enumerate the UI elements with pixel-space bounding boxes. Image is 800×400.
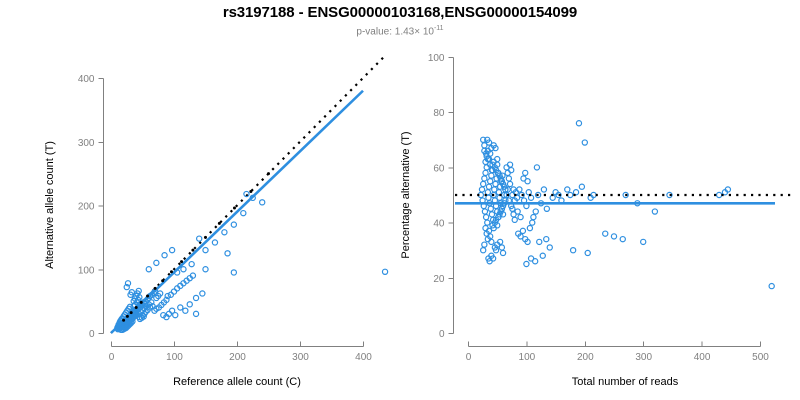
data-point xyxy=(171,289,176,294)
x-tick-label: 400 xyxy=(694,352,711,363)
data-point xyxy=(231,222,236,227)
data-point xyxy=(484,165,489,170)
data-point xyxy=(579,184,584,189)
left-scatter-points xyxy=(115,191,388,332)
data-point xyxy=(193,311,198,316)
left-y-tick-marks xyxy=(99,79,104,334)
data-point xyxy=(512,217,517,222)
data-point-dark xyxy=(191,249,194,252)
figure-container: rs3197188 - ENSG00000103168,ENSG00000154… xyxy=(0,0,800,400)
data-point xyxy=(486,184,491,189)
y-tick-label: 100 xyxy=(78,265,95,276)
data-point-dark xyxy=(154,287,157,290)
x-tick-label: 200 xyxy=(229,352,246,363)
data-point xyxy=(527,226,532,231)
data-point xyxy=(231,270,236,275)
data-point xyxy=(482,209,487,214)
data-point xyxy=(260,200,265,205)
y-tick-label: 300 xyxy=(78,138,95,149)
data-point xyxy=(523,170,528,175)
data-point xyxy=(181,267,186,272)
data-point-dark xyxy=(218,222,221,225)
data-point xyxy=(544,206,549,211)
data-point xyxy=(173,313,178,318)
data-point xyxy=(479,187,484,192)
left-panel: 0100200300400 Alternative allele count (… xyxy=(44,56,388,388)
data-point xyxy=(507,162,512,167)
data-point xyxy=(189,262,194,267)
data-point xyxy=(241,211,246,216)
data-point xyxy=(585,250,590,255)
left-y-axis-title: Alternative allele count (T) xyxy=(44,141,56,269)
data-point xyxy=(483,170,488,175)
data-point xyxy=(481,181,486,186)
right-x-axis-title: Total number of reads xyxy=(572,376,679,388)
data-point xyxy=(500,250,505,255)
data-point-dark xyxy=(180,260,183,263)
data-point xyxy=(533,259,538,264)
data-point xyxy=(540,253,545,258)
data-point xyxy=(193,295,198,300)
data-point xyxy=(222,230,227,235)
data-point xyxy=(481,248,486,253)
x-tick-label: 300 xyxy=(635,352,652,363)
left-y-tick-labels: 0100200300400 xyxy=(78,74,95,340)
x-tick-label: 100 xyxy=(519,352,536,363)
data-point xyxy=(203,267,208,272)
data-point xyxy=(505,170,510,175)
data-point xyxy=(482,176,487,181)
data-point xyxy=(509,168,514,173)
data-point-dark xyxy=(122,319,125,322)
data-point xyxy=(568,192,573,197)
data-point xyxy=(571,248,576,253)
data-point xyxy=(520,228,525,233)
data-point xyxy=(488,179,493,184)
x-tick-label: 300 xyxy=(292,352,309,363)
data-point xyxy=(517,187,522,192)
y-tick-label: 0 xyxy=(89,329,95,340)
data-point xyxy=(485,220,490,225)
right-panel: 020406080100 Percentage alternative (T) … xyxy=(400,53,792,388)
data-point xyxy=(652,209,657,214)
x-tick-label: 0 xyxy=(109,352,115,363)
left-panel-y-axis: 0100200300400 Alternative allele count (… xyxy=(44,74,104,340)
data-point-dark xyxy=(146,295,149,298)
data-point xyxy=(537,239,542,244)
y-tick-label: 200 xyxy=(78,202,95,213)
left-x-axis-title: Reference allele count (C) xyxy=(173,376,301,388)
left-panel-x-axis: 0100200300400 Reference allele count (C) xyxy=(109,342,373,389)
right-y-tick-marks xyxy=(449,58,454,334)
left-x-tick-marks xyxy=(112,342,364,347)
data-point xyxy=(524,261,529,266)
data-point xyxy=(197,236,202,241)
data-point xyxy=(530,220,535,225)
data-point xyxy=(544,237,549,242)
data-point xyxy=(146,267,151,272)
data-point xyxy=(162,253,167,258)
data-point xyxy=(541,187,546,192)
data-point xyxy=(515,209,520,214)
data-point xyxy=(170,248,175,253)
data-point xyxy=(489,173,494,178)
x-tick-label: 100 xyxy=(166,352,183,363)
plot-area: 0100200300400 Alternative allele count (… xyxy=(0,0,800,400)
data-point xyxy=(717,192,722,197)
data-point xyxy=(154,260,159,265)
data-point xyxy=(482,242,487,247)
data-point xyxy=(483,226,488,231)
data-point-dark xyxy=(170,270,173,273)
right-x-tick-marks xyxy=(469,342,761,347)
x-tick-label: 200 xyxy=(577,352,594,363)
data-point xyxy=(488,206,493,211)
data-point-dark xyxy=(126,315,129,318)
data-point xyxy=(203,248,208,253)
y-tick-label: 60 xyxy=(433,163,445,174)
data-point xyxy=(489,212,494,217)
data-point xyxy=(582,140,587,145)
data-point-dark xyxy=(130,311,133,314)
left-x-tick-labels: 0100200300400 xyxy=(109,352,373,363)
y-tick-label: 80 xyxy=(433,108,445,119)
data-point xyxy=(525,179,530,184)
y-tick-label: 0 xyxy=(439,329,445,340)
data-point xyxy=(212,240,217,245)
data-point xyxy=(531,214,536,219)
x-tick-label: 500 xyxy=(752,352,769,363)
data-point xyxy=(489,239,494,244)
data-point xyxy=(200,291,205,296)
right-y-axis-title: Percentage alternative (T) xyxy=(400,131,412,258)
data-point-dark xyxy=(267,172,270,175)
data-point xyxy=(641,239,646,244)
y-tick-label: 100 xyxy=(428,53,445,64)
data-point-dark xyxy=(135,306,138,309)
data-point xyxy=(187,302,192,307)
data-point-dark xyxy=(161,279,164,282)
y-tick-label: 40 xyxy=(433,219,445,230)
data-point xyxy=(534,165,539,170)
data-point xyxy=(506,176,511,181)
right-panel-x-axis: 0100200300400500 Total number of reads xyxy=(466,342,770,389)
data-point-dark xyxy=(204,236,207,239)
data-point xyxy=(611,234,616,239)
data-point xyxy=(547,245,552,250)
y-tick-label: 20 xyxy=(433,274,445,285)
data-point xyxy=(533,209,538,214)
data-point-dark xyxy=(249,190,252,193)
data-point xyxy=(382,269,387,274)
data-point xyxy=(484,214,489,219)
x-tick-label: 400 xyxy=(355,352,372,363)
right-scatter-points xyxy=(478,121,774,289)
data-point xyxy=(225,251,230,256)
data-point xyxy=(565,187,570,192)
y-tick-label: 400 xyxy=(78,74,95,85)
data-point xyxy=(518,214,523,219)
x-tick-label: 0 xyxy=(466,352,472,363)
right-y-tick-labels: 020406080100 xyxy=(428,53,445,340)
right-panel-y-axis: 020406080100 Percentage alternative (T) xyxy=(400,53,454,340)
data-point xyxy=(576,121,581,126)
data-point xyxy=(495,157,500,162)
data-point xyxy=(178,305,183,310)
data-point xyxy=(769,283,774,288)
data-point xyxy=(499,245,504,250)
data-point xyxy=(603,231,608,236)
data-point-dark xyxy=(233,207,236,210)
right-x-tick-labels: 0100200300400500 xyxy=(466,352,770,363)
data-point xyxy=(507,181,512,186)
data-point xyxy=(620,237,625,242)
data-point xyxy=(183,308,188,313)
data-point-dark xyxy=(140,301,143,304)
